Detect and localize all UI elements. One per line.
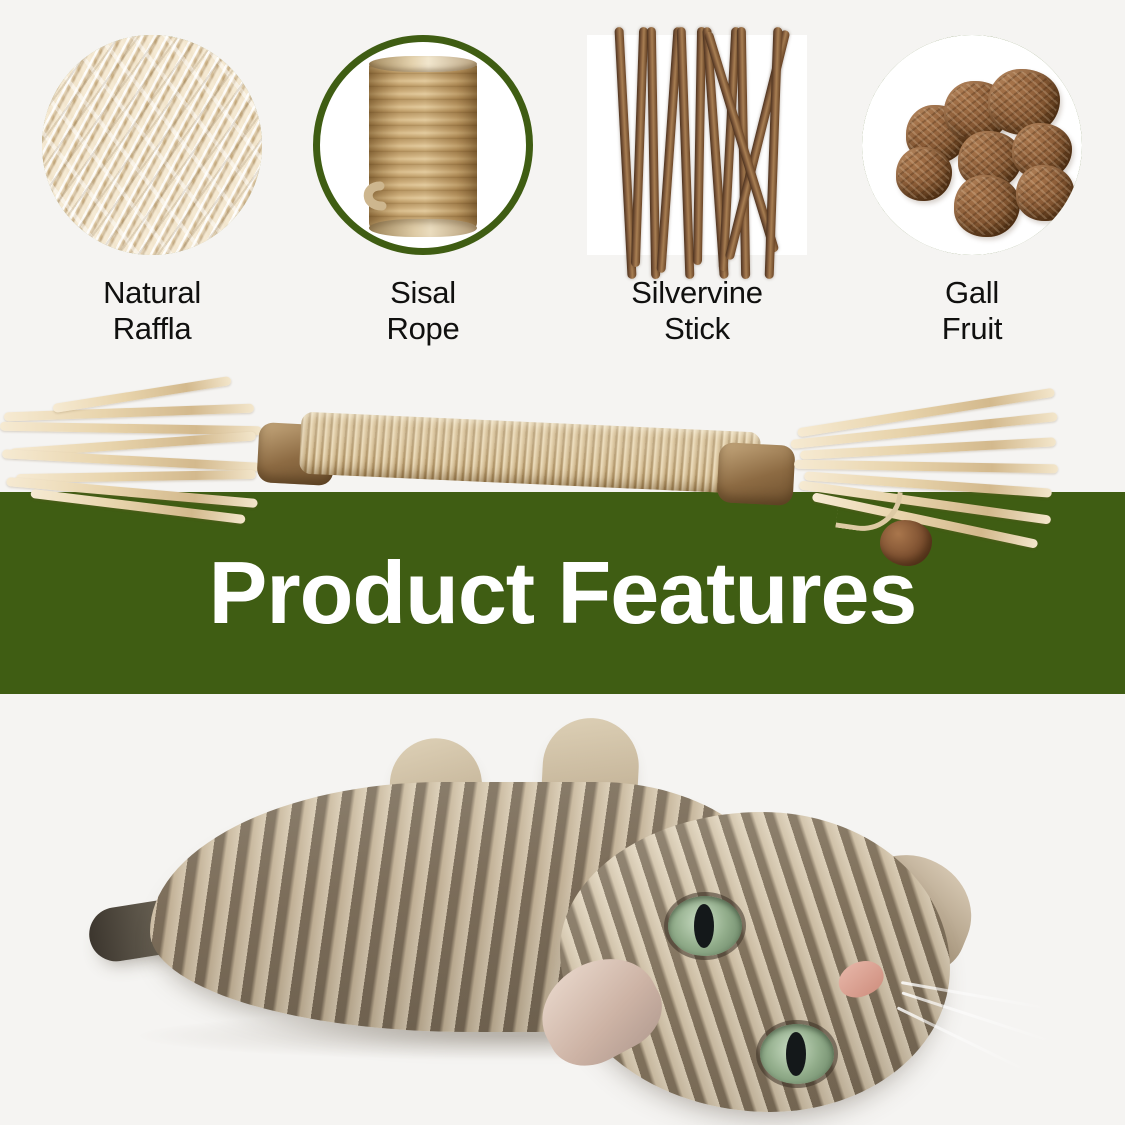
hero-section: Product Features bbox=[0, 360, 1125, 700]
ingredient-item-silvervine-stick: Silvervine Stick bbox=[567, 0, 827, 347]
ingredient-image-silvervine-stick bbox=[587, 35, 807, 255]
ingredient-label-natural-raffla: Natural Raffla bbox=[22, 275, 282, 347]
ingredient-image-gall-fruit bbox=[862, 35, 1082, 255]
ingredient-label-gall-fruit: Gall Fruit bbox=[842, 275, 1102, 347]
silvervine-sticks-icon bbox=[587, 35, 807, 255]
ingredient-image-sisal-rope bbox=[313, 35, 533, 255]
ingredient-item-gall-fruit: Gall Fruit bbox=[842, 0, 1102, 347]
cat-eye-upper bbox=[668, 896, 742, 956]
product-feature-page: Natural Raffla Sisal Rope bbox=[0, 0, 1125, 1125]
ingredient-image-natural-raffla bbox=[42, 35, 262, 255]
ingredient-label-sisal-rope: Sisal Rope bbox=[293, 275, 553, 347]
sisal-wrapped-core bbox=[299, 412, 761, 495]
banner-title: Product Features bbox=[0, 492, 1125, 694]
sisal-rope-spool-icon bbox=[369, 61, 477, 229]
ingredient-label-silvervine-stick: Silvervine Stick bbox=[567, 275, 827, 347]
ingredient-item-natural-raffla: Natural Raffla bbox=[22, 0, 282, 347]
raffia-texture-icon bbox=[42, 35, 262, 255]
gall-fruit-cluster-icon bbox=[862, 35, 1082, 255]
ingredient-circles-row: Natural Raffla Sisal Rope bbox=[0, 0, 1125, 360]
cat-eye-lower bbox=[760, 1024, 834, 1084]
cat-photo bbox=[0, 694, 1125, 1125]
ingredient-item-sisal-rope: Sisal Rope bbox=[293, 0, 553, 347]
